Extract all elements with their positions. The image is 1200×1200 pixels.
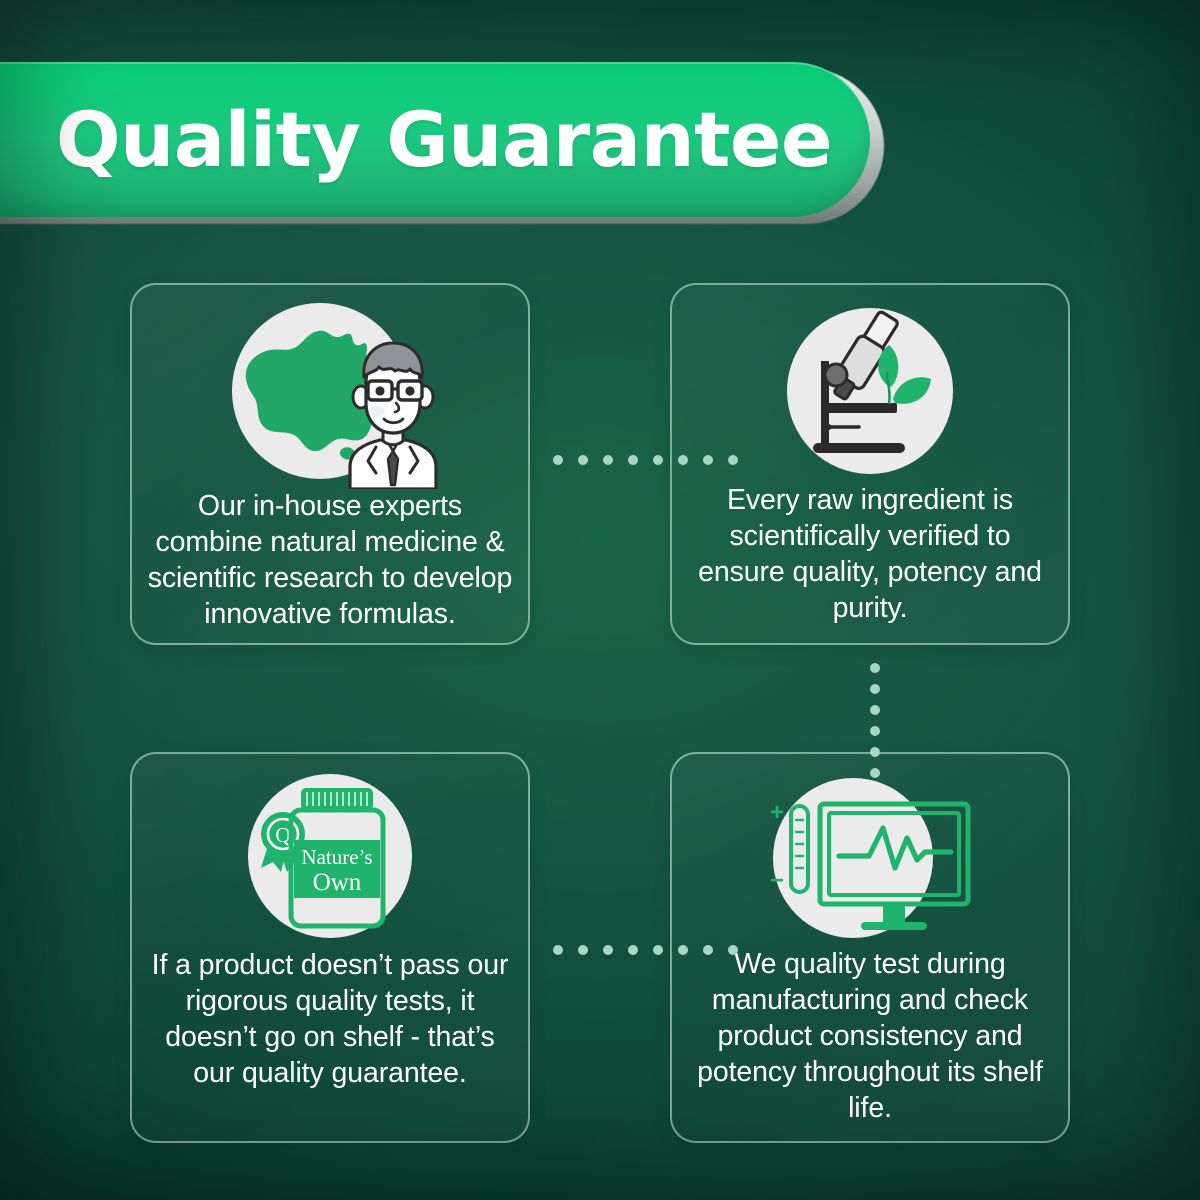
connector-dot — [728, 945, 738, 955]
connector-dots-top — [553, 455, 738, 465]
connector-dot — [628, 945, 638, 955]
connector-dot — [870, 768, 880, 778]
connector-dot — [870, 663, 880, 673]
card-testing-text: If a product doesn’t pass our rigorous q… — [132, 948, 528, 1092]
bottle-brand-line2: Own — [313, 869, 362, 896]
connector-dots-right — [870, 663, 880, 778]
connector-dot — [678, 945, 688, 955]
card-monitoring-text: We quality test during manufacturing and… — [672, 947, 1068, 1127]
monitor-heartbeat-thermometer-icon: + − — [765, 772, 975, 947]
connector-dot — [578, 455, 588, 465]
connector-dots-bottom — [553, 945, 738, 955]
card-verification-icon-area — [672, 285, 1068, 483]
microscope-leaf-icon — [775, 303, 965, 483]
connector-dot — [603, 945, 613, 955]
connector-dot — [553, 945, 563, 955]
card-experts-text: Our in-house experts combine natural med… — [132, 489, 528, 633]
card-experts-icon-area — [132, 285, 528, 489]
connector-dot — [628, 455, 638, 465]
australia-map-scientist-icon — [200, 299, 460, 489]
connector-dot — [653, 455, 663, 465]
connector-dot — [870, 726, 880, 736]
connector-dot — [703, 945, 713, 955]
badge-letter: Q — [275, 823, 290, 847]
header-banner: Quality Guarantee — [0, 62, 884, 220]
bottle-brand-line1: Nature’s — [301, 845, 372, 869]
connector-dot — [703, 455, 713, 465]
connector-dot — [578, 945, 588, 955]
connector-dot — [728, 455, 738, 465]
connector-dot — [678, 455, 688, 465]
page-title: Quality Guarantee — [56, 102, 832, 178]
thermometer-minus-label: − — [770, 867, 784, 894]
connector-dot — [870, 747, 880, 757]
connector-dot — [653, 945, 663, 955]
card-monitoring-icon-area: + − — [672, 754, 1068, 947]
card-testing: Q Nature’s Own — [130, 752, 530, 1143]
thermometer-plus-label: + — [770, 799, 784, 826]
card-testing-icon-area: Q Nature’s Own — [132, 754, 528, 948]
supplement-bottle-quality-badge-icon: Q Nature’s Own — [225, 768, 435, 948]
card-experts: Our in-house experts combine natural med… — [130, 283, 530, 645]
connector-dot — [553, 455, 563, 465]
connector-dot — [870, 684, 880, 694]
card-verification-text: Every raw ingredient is scientifically v… — [672, 483, 1068, 627]
banner-body: Quality Guarantee — [0, 62, 870, 217]
connector-dot — [870, 705, 880, 715]
connector-dot — [603, 455, 613, 465]
